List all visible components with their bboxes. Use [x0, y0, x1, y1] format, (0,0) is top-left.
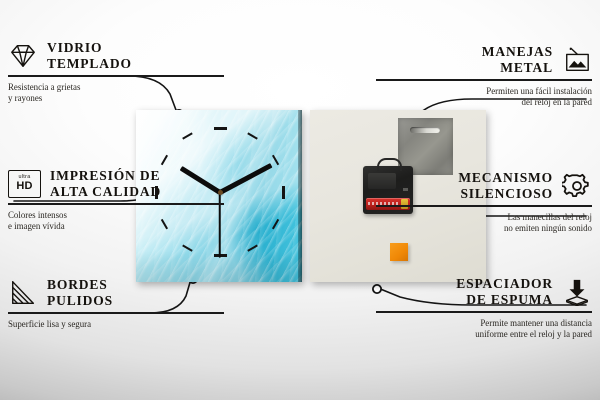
feature-espaciador-espuma: ESPACIADOR DE ESPUMA Permite mantener un… — [376, 276, 592, 340]
feature-title: BORDES PULIDOS — [47, 277, 113, 308]
gear-icon — [562, 172, 592, 200]
ultra-hd-icon: ultra HD — [8, 170, 41, 198]
divider — [8, 312, 224, 314]
hanger-keyhole-slot — [410, 127, 440, 133]
feature-title: VIDRIO TEMPLADO — [47, 40, 132, 71]
arrow-down-pad-icon — [562, 278, 592, 306]
feature-mecanismo-silencioso: MECANISMO SILENCIOSO Las manecillas del … — [376, 170, 592, 234]
feature-desc: Superficie lisa y segura — [8, 319, 224, 330]
divider — [376, 205, 592, 207]
divider — [376, 79, 592, 81]
diamond-icon — [8, 42, 38, 70]
feature-desc: Permite mantener una distancia uniforme … — [376, 318, 592, 341]
feature-impresion-alta-calidad: ultra HD IMPRESIÓN DE ALTA CALIDAD Color… — [8, 168, 224, 232]
polished-edge-icon — [8, 279, 38, 307]
feature-desc: Las manecillas del reloj no emiten ningú… — [376, 212, 592, 235]
feature-title: MANEJAS METAL — [482, 44, 553, 75]
feature-title: ESPACIADOR DE ESPUMA — [456, 276, 553, 307]
feature-bordes-pulidos: BORDES PULIDOS Superficie lisa y segura — [8, 277, 224, 330]
feature-desc: Permiten una fácil instalación del reloj… — [376, 86, 592, 109]
feature-desc: Colores intensos e imagen vívida — [8, 210, 224, 233]
foam-spacer — [390, 243, 408, 261]
feature-title: IMPRESIÓN DE ALTA CALIDAD — [50, 168, 161, 199]
clock-tick — [282, 186, 285, 199]
divider — [8, 75, 224, 77]
ultra-hd-icon-bottom: HD — [16, 181, 32, 192]
wall-frame-hanger-icon — [562, 46, 592, 74]
panel-edge-shadow — [298, 110, 302, 282]
divider — [8, 203, 224, 205]
feature-manejas-metal: MANEJAS METAL Permiten una fácil instala… — [376, 44, 592, 108]
clock-tick — [214, 127, 227, 130]
feature-title: MECANISMO SILENCIOSO — [458, 170, 553, 201]
feature-desc: Resistencia a grietas y rayones — [8, 82, 224, 105]
infographic-stage: VIDRIO TEMPLADO Resistencia a grietas y … — [0, 0, 600, 400]
divider — [376, 311, 592, 313]
feature-vidrio-templado: VIDRIO TEMPLADO Resistencia a grietas y … — [8, 40, 224, 104]
